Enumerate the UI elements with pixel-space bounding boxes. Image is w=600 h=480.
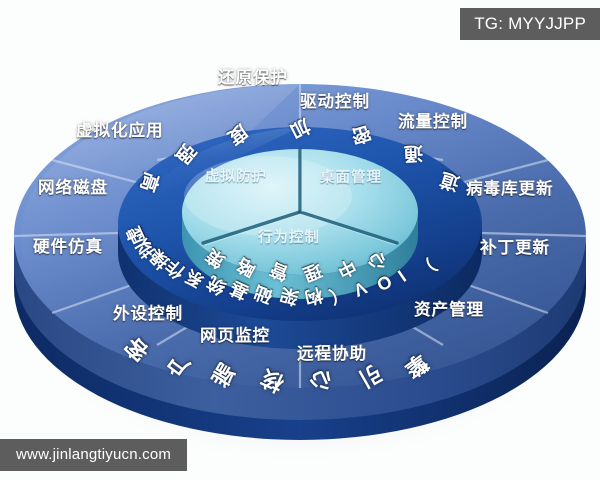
core-sector-xuni-fanghu[interactable]: 虚拟防护 xyxy=(205,165,267,186)
core-sector-zhuomian-guanli[interactable]: 桌面管理 xyxy=(320,166,382,187)
website-watermark: www.jinlangtiyucn.com xyxy=(0,439,187,471)
outer-segment-wangluo-cipan[interactable]: 网络磁盘 xyxy=(38,174,108,198)
outer-segment-huanyuan-baohu[interactable]: 还原保护 xyxy=(218,64,288,88)
outer-segment-wangye-jiankong[interactable]: 网页监控 xyxy=(200,322,270,346)
outer-segment-zichan-guanli[interactable]: 资产管理 xyxy=(414,296,484,320)
core-sector-xingwei-kongzhi[interactable]: 行为控制 xyxy=(258,226,320,247)
outer-segment-buding-gengxin[interactable]: 补丁更新 xyxy=(480,234,550,258)
outer-segment-xunihua-yingyong[interactable]: 虚拟化应用 xyxy=(76,117,164,141)
tg-watermark-tag: TG: MYYJJPP xyxy=(460,8,600,40)
diagram-canvas: 还原保护 驱动控制 流量控制 病毒库更新 补丁更新 资产管理 远程协助 网页监控… xyxy=(0,0,600,480)
outer-segment-waishe-kongzhi[interactable]: 外设控制 xyxy=(113,300,183,324)
outer-segment-yingjian-fangzhen[interactable]: 硬件仿真 xyxy=(33,233,103,257)
outer-segment-bingdu-ku-gengxin[interactable]: 病毒库更新 xyxy=(466,175,554,199)
outer-segment-liuliang-kongzhi[interactable]: 流量控制 xyxy=(398,108,468,132)
outer-segment-qudong-kongzhi[interactable]: 驱动控制 xyxy=(300,88,370,112)
arc-top-char: 通 xyxy=(404,140,424,168)
outer-segment-yuancheng-xiezhu[interactable]: 远程协助 xyxy=(297,340,367,364)
